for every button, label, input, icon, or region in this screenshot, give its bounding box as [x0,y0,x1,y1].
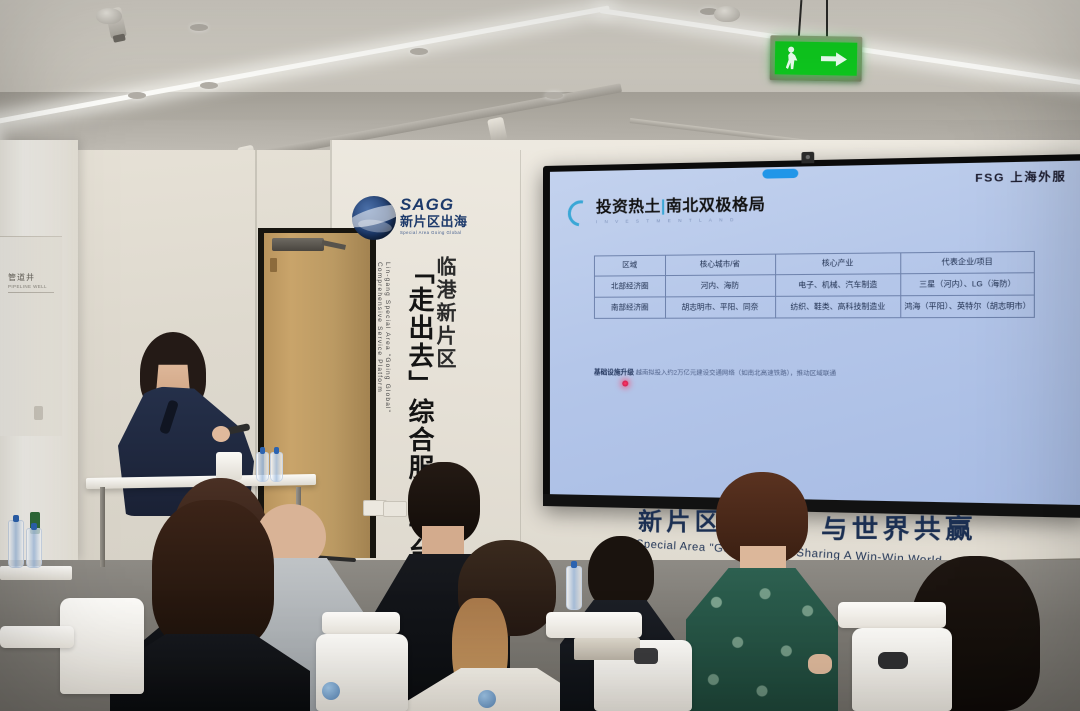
presentation-display[interactable]: FSG 上海外服 投资热土|南北双极格局 I N V E S T M E N T… [543,154,1080,518]
eyeglasses[interactable] [878,652,908,669]
ceiling-speaker-1 [96,8,122,24]
wall-seam-3 [520,150,521,570]
cell-cities-south: 胡志明市、平阳、同奈 [665,296,775,318]
pipe-access-panel [0,236,62,436]
front-table-leg-left [100,487,105,567]
slide-note-text: 越南拟投入约2万亿元建设交通网络（如南北高速铁路），推动区域联通 [636,369,836,377]
side-table-left [0,566,72,580]
cell-industries-south: 纺织、鞋类、高科技制造业 [775,296,901,318]
sagg-brand-en: Special Area Going Global [400,230,468,235]
pipe-well-sign-cn: 管道井 [8,272,56,283]
slide-table: 区域 核心城市/省 核心产业 代表企业/项目 北部经济圈 河内、海防 电子、机械… [594,251,1035,319]
ceiling-speaker-2 [714,6,740,22]
table-header-cities: 核心城市/省 [665,254,775,275]
water-bottle-side-2 [26,528,42,568]
slide-note: 基础设施升级 越南拟投入约2万亿元建设交通网络（如南北高速铁路），推动区域联通 [594,368,1041,380]
exit-sign-face [775,41,858,75]
downlight-1 [190,24,208,31]
globe-icon [352,196,396,240]
tablet-arm-2 [322,612,400,634]
cell-region-south: 南部经济圈 [594,297,665,318]
display-screen: FSG 上海外服 投资热土|南北双极格局 I N V E S T M E N T… [550,161,1080,505]
audience-member-6 [682,472,842,711]
table-header-companies: 代表企业/项目 [901,251,1034,273]
badge-pin [322,682,340,700]
cell-companies-north: 三星（河内）、LG（海防） [901,273,1034,296]
downlight-2 [410,48,428,55]
paper-cup [216,452,242,480]
wall-vertical-en1: Lin-gang Special Area "Going Global" [384,262,391,413]
tablet-arm-1 [0,626,74,648]
running-man-icon [785,46,801,70]
mobile-phone[interactable] [634,648,658,664]
door-closer [272,238,324,251]
water-bottle-desk-1 [566,566,582,610]
pipe-well-sign-en: PIPELINE WELL [8,284,56,289]
slide-content: FSG 上海外服 投资热土|南北双极格局 I N V E S T M E N T… [550,161,1080,505]
table-header-region: 区域 [594,255,665,276]
tablet-arm-3 [546,612,642,638]
chair-4[interactable] [852,628,952,711]
audience-6-body [686,568,838,711]
presentation-room-photo: 管道井 PIPELINE WELL SAGG 新片区出海 Special Are… [0,0,1080,711]
table-header-industries: 核心产业 [775,253,901,275]
presenter-hand [212,426,230,442]
display-camera-icon [801,152,814,164]
downlight-6 [545,92,563,99]
wall-vertical-en2: Comprehensive Service Platform [376,262,383,393]
arc-decoration-icon [568,200,594,227]
slide-corner-brand: FSG 上海外服 [975,167,1066,186]
sagg-wall-logo: SAGG 新片区出海 Special Area Going Global [352,192,470,248]
laser-pointer-dot [622,380,628,386]
pipe-panel-latch[interactable] [34,406,43,420]
audience-5-hair [588,536,654,610]
slide-note-label: 基础设施升级 [594,369,634,376]
sagg-brand: SAGG [400,196,468,213]
downlight-3 [128,92,146,99]
table-row: 北部经济圈 河内、海防 电子、机械、汽车制造 三星（河内）、LG（海防） [594,273,1034,298]
audience-6-hand [808,654,832,674]
table-row: 南部经济圈 胡志明市、平阳、同奈 纺织、鞋类、高科技制造业 鸿海（平阳）、英特尔… [594,295,1034,318]
slide-title-main: 投资热土 [596,198,661,216]
exit-sign-wire-b [826,0,828,38]
wall-branding-cn-right: 与世界共赢 [821,508,977,546]
downlight-5 [200,82,218,89]
cell-companies-south: 鸿海（平阳）、英特尔（胡志明市） [901,295,1034,318]
pipe-well-sign-rule [8,292,54,293]
slide-accent-tab [762,169,798,179]
slide-title-pinyin: I N V E S T M E N T L A N D [596,217,766,225]
door-hinge [270,258,277,272]
sagg-brand-cn: 新片区出海 [400,215,468,228]
sagg-logo-text: SAGG 新片区出海 Special Area Going Global [400,196,468,235]
emergency-exit-sign [770,35,863,82]
audience-8-hair [152,500,274,650]
cell-cities-north: 河内、海防 [665,275,775,297]
handout-papers[interactable] [574,638,640,660]
slide-title: 投资热土|南北双极格局 I N V E S T M E N T L A N D [568,196,766,227]
badge-pin-2 [478,690,496,708]
cell-region-north: 北部经济圈 [594,276,665,298]
cell-industries-north: 电子、机械、汽车制造 [775,274,901,297]
pipe-well-sign: 管道井 PIPELINE WELL [8,272,56,293]
water-bottle-side-1 [8,520,24,568]
slide-title-sub: 南北双极格局 [666,196,766,215]
tablet-arm-4 [838,602,946,628]
arrow-right-icon [821,52,847,65]
